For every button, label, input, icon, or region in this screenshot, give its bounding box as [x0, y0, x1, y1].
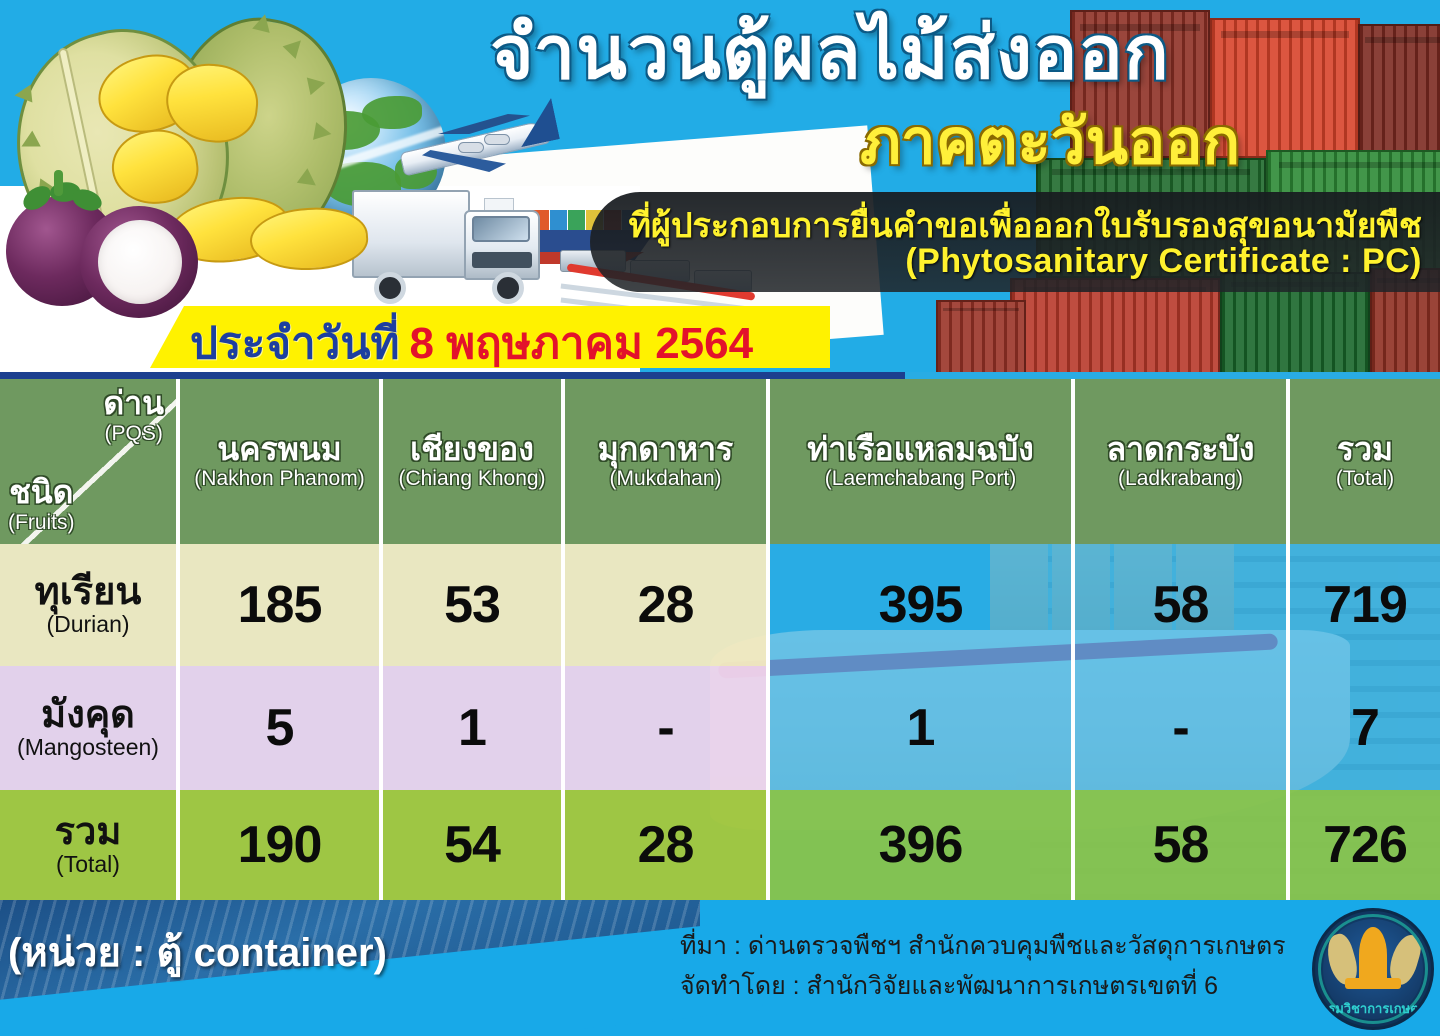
cell-value: 396 [879, 815, 963, 875]
table-row-mangosteen: มังคุด (Mangosteen) 5 1 - 1 - 7 [0, 666, 1440, 790]
cell-value: 58 [1153, 575, 1209, 635]
cell-total-nakhon-phanom: 190 [180, 790, 383, 900]
row-label-durian: ทุเรียน (Durian) [0, 544, 180, 666]
cell-value: 5 [266, 698, 294, 758]
column-header-th: มุกดาหาร [598, 433, 733, 467]
table-corner-cell: ด่าน (PQS) ชนิด (Fruits) [0, 379, 180, 544]
column-header-en: (Chiang Khong) [398, 468, 545, 490]
cell-value: 185 [238, 575, 322, 635]
cell-value: 53 [444, 575, 500, 635]
corner-pqs-en: (PQS) [103, 423, 164, 445]
date-value: 8 พฤษภาคม 2564 [409, 319, 753, 368]
column-header-total: รวม (Total) [1290, 379, 1440, 544]
table-row-durian: ทุเรียน (Durian) 185 53 28 395 58 719 [0, 544, 1440, 666]
row-label-en: (Total) [56, 852, 120, 877]
infographic-page: จำนวนตู้ผลไม้ส่งออก ภาคตะวันออก ที่ผู้ปร… [0, 0, 1440, 1036]
cell-total-laemchabang: 396 [770, 790, 1075, 900]
corner-fruits-en: (Fruits) [8, 512, 75, 534]
row-label-th: ทุเรียน [35, 573, 142, 611]
footer: (หน่วย : ตู้ container) ที่มา : ด่านตรวจ… [0, 900, 1440, 1036]
page-title: จำนวนตู้ผลไม้ส่งออก [430, 14, 1230, 92]
row-label-th: รวม [55, 813, 122, 851]
column-header-ladkrabang: ลาดกระบัง (Ladkrabang) [1075, 379, 1290, 544]
cell-value: 58 [1153, 815, 1209, 875]
cell-mangosteen-ladkrabang: - [1075, 666, 1290, 790]
column-header-en: (Nakhon Phanom) [194, 468, 364, 490]
column-header-th: รวม [1337, 433, 1393, 467]
cell-mangosteen-total: 7 [1290, 666, 1440, 790]
cell-value: 719 [1323, 575, 1407, 635]
table-top-rule [0, 372, 905, 379]
column-header-chiang-khong: เชียงของ (Chiang Khong) [383, 379, 565, 544]
column-header-en: (Laemchabang Port) [825, 468, 1016, 490]
cell-mangosteen-chiang-khong: 1 [383, 666, 565, 790]
source-line-2: จัดทำโดย : สำนักวิจัยและพัฒนาการเกษตรเขต… [680, 966, 1286, 1006]
cell-mangosteen-laemchabang: 1 [770, 666, 1075, 790]
cell-value: 7 [1351, 698, 1379, 758]
unit-note: (หน่วย : ตู้ container) [8, 920, 387, 984]
date-ribbon: ประจำวันที่8 พฤษภาคม 2564 [150, 306, 830, 368]
certificate-banner-line2: (Phytosanitary Certificate : PC) [905, 242, 1422, 281]
page-subtitle-region: ภาคตะวันออก [600, 110, 1240, 175]
department-of-agriculture-logo: กรมวิชาการเกษตร [1312, 908, 1434, 1030]
mangosteen-cut [80, 206, 198, 318]
cell-durian-nakhon-phanom: 185 [180, 544, 383, 666]
cell-mangosteen-nakhon-phanom: 5 [180, 666, 383, 790]
cell-durian-chiang-khong: 53 [383, 544, 565, 666]
cell-durian-ladkrabang: 58 [1075, 544, 1290, 666]
cell-value: 54 [444, 815, 500, 875]
column-header-th: นครพนม [217, 433, 342, 467]
cell-value: 28 [638, 815, 694, 875]
data-table: ด่าน (PQS) ชนิด (Fruits) นครพนม (Nakhon … [0, 372, 1440, 900]
header-banner: จำนวนตู้ผลไม้ส่งออก ภาคตะวันออก ที่ผู้ปร… [0, 0, 1440, 372]
column-header-mukdahan: มุกดาหาร (Mukdahan) [565, 379, 770, 544]
cell-value: - [657, 698, 673, 758]
column-header-laemchabang-port: ท่าเรือแหลมฉบัง (Laemchabang Port) [770, 379, 1075, 544]
airplane-icon [392, 96, 562, 188]
cell-value: 726 [1323, 815, 1407, 875]
column-header-en: (Total) [1336, 468, 1394, 490]
source-line-1: ที่มา : ด่านตรวจพืชฯ สำนักควบคุมพืชและวั… [680, 926, 1286, 966]
cell-durian-mukdahan: 28 [565, 544, 770, 666]
corner-pqs-th: ด่าน [103, 387, 164, 421]
column-header-nakhon-phanom: นครพนม (Nakhon Phanom) [180, 379, 383, 544]
cell-total-ladkrabang: 58 [1075, 790, 1290, 900]
cell-value: 395 [879, 575, 963, 635]
cell-value: - [1172, 698, 1188, 758]
cell-total-mukdahan: 28 [565, 790, 770, 900]
row-label-mangosteen: มังคุด (Mangosteen) [0, 666, 180, 790]
cell-total-total: 726 [1290, 790, 1440, 900]
cell-value: 1 [458, 698, 486, 758]
row-label-total: รวม (Total) [0, 790, 180, 900]
cell-value: 1 [907, 698, 935, 758]
logo-caption: กรมวิชาการเกษตร [1315, 998, 1431, 1019]
source-block: ที่มา : ด่านตรวจพืชฯ สำนักควบคุมพืชและวั… [680, 926, 1286, 1006]
column-header-th: ท่าเรือแหลมฉบัง [807, 433, 1034, 467]
cell-durian-total: 719 [1290, 544, 1440, 666]
column-header-en: (Ladkrabang) [1118, 468, 1243, 490]
row-label-th: มังคุด [41, 696, 135, 734]
table-header-row: ด่าน (PQS) ชนิด (Fruits) นครพนม (Nakhon … [0, 379, 1440, 544]
cell-value: 190 [238, 815, 322, 875]
row-label-en: (Durian) [46, 612, 129, 637]
column-header-en: (Mukdahan) [609, 468, 721, 490]
cell-durian-laemchabang: 395 [770, 544, 1075, 666]
cell-mangosteen-mukdahan: - [565, 666, 770, 790]
corner-fruits-th: ชนิด [8, 476, 75, 510]
table-row-total: รวม (Total) 190 54 28 396 58 726 [0, 790, 1440, 900]
column-header-th: ลาดกระบัง [1106, 433, 1254, 467]
cell-total-chiang-khong: 54 [383, 790, 565, 900]
date-label: ประจำวันที่ [190, 319, 399, 368]
certificate-banner: ที่ผู้ประกอบการยื่นคำขอเพื่อออกใบรับรองส… [590, 192, 1440, 292]
column-header-th: เชียงของ [410, 433, 534, 467]
row-label-en: (Mangosteen) [17, 735, 159, 760]
cell-value: 28 [638, 575, 694, 635]
